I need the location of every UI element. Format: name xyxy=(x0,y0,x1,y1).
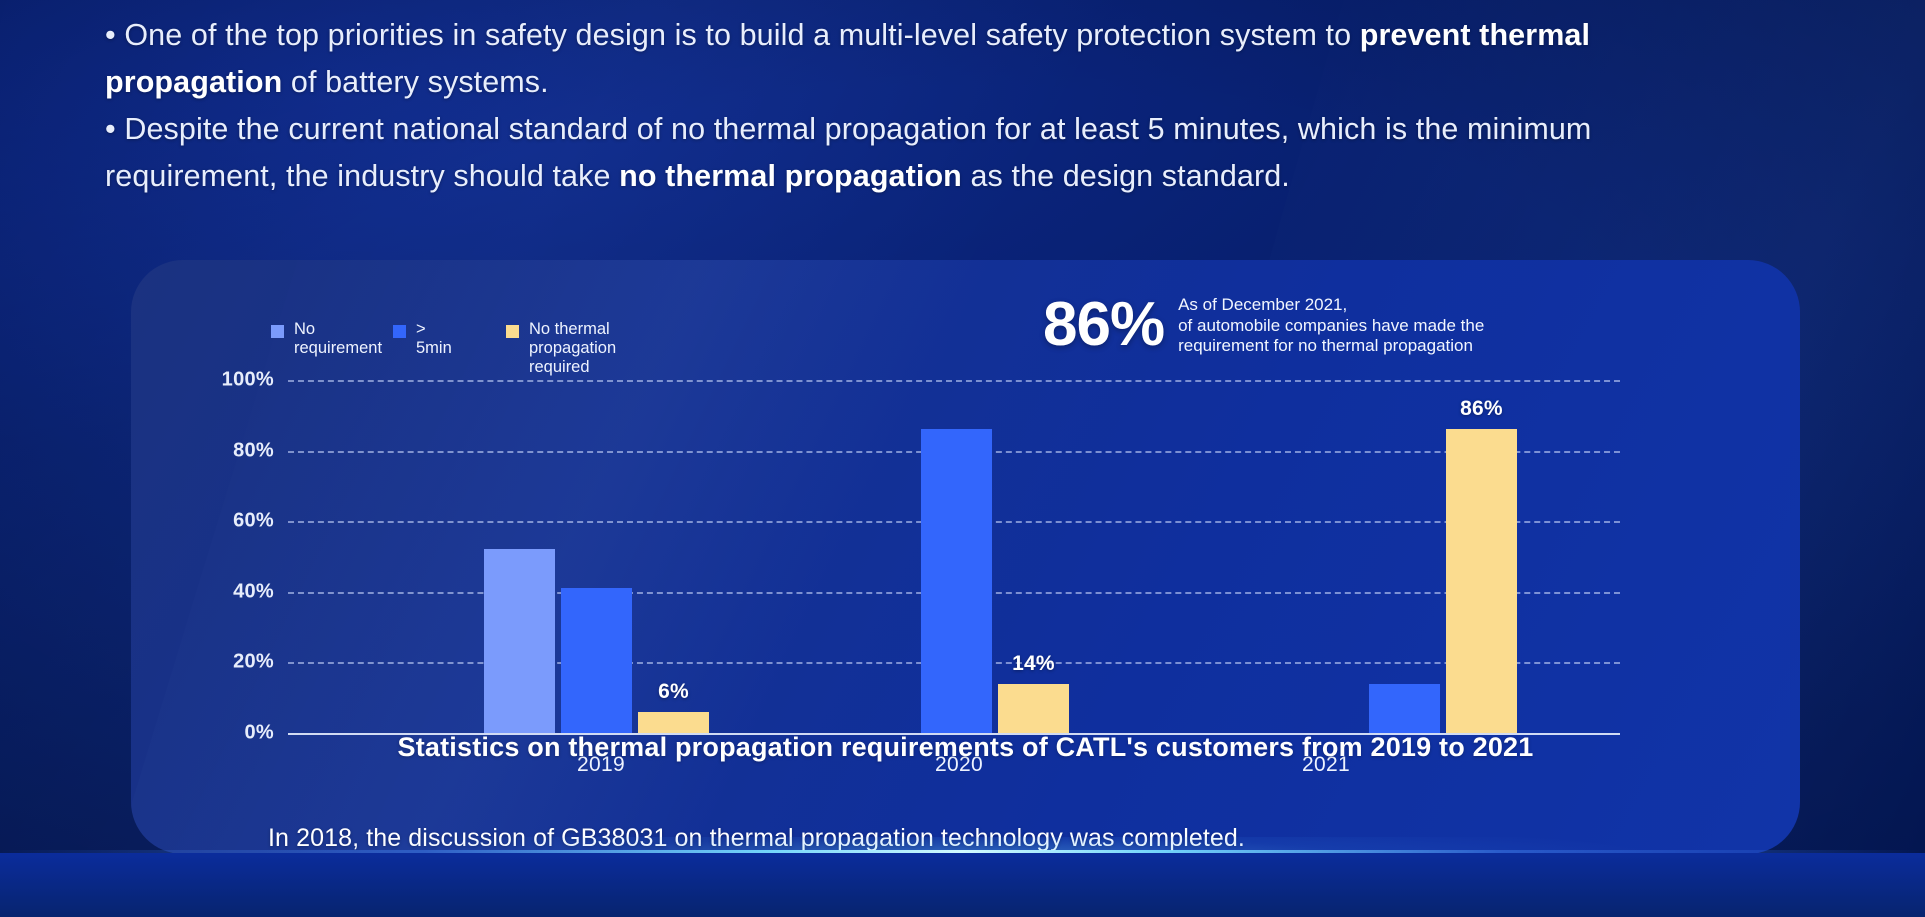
callout-86-percent: 86% As of December 2021, of automobile c… xyxy=(1043,293,1484,357)
chart-card: No requirement> 5minNo thermal propagati… xyxy=(131,260,1800,854)
bar-2020-series-1[interactable] xyxy=(921,429,992,733)
bullet-marker: • xyxy=(105,18,124,52)
bar-2021-series-2[interactable] xyxy=(1446,429,1517,733)
chart-caption: Statistics on thermal propagation requir… xyxy=(131,732,1800,763)
bar-2019-series-0[interactable] xyxy=(484,549,555,733)
callout-description: As of December 2021, of automobile compa… xyxy=(1178,295,1484,357)
bullet-marker: • xyxy=(105,112,124,146)
bottom-strip xyxy=(0,853,1925,917)
bullet-1-segment-2: as the design standard. xyxy=(962,159,1290,193)
y-axis-tick: 20% xyxy=(194,651,274,674)
gridline-100% xyxy=(288,380,1620,382)
y-axis-tick: 40% xyxy=(194,580,274,603)
bar-2020-series-2[interactable] xyxy=(998,684,1069,733)
bar-2019-series-2[interactable] xyxy=(638,712,709,733)
bullet-1: • Despite the current national standard … xyxy=(105,106,1705,200)
y-axis-tick: 60% xyxy=(194,510,274,533)
bar-chart-plot: 0%20%40%60%80%100%6%201914%202086%2021 xyxy=(131,260,1800,854)
callout-percent-value: 86% xyxy=(1043,294,1164,356)
y-axis-tick: 80% xyxy=(194,439,274,462)
y-axis-tick: 100% xyxy=(194,369,274,392)
bar-2019-series-1[interactable] xyxy=(561,588,632,733)
bullet-0-segment-2: of battery systems. xyxy=(282,65,548,99)
bar-2021-series-1[interactable] xyxy=(1369,684,1440,733)
bar-value-label: 6% xyxy=(613,680,734,704)
bar-value-label: 86% xyxy=(1421,397,1542,421)
bullet-list: • One of the top priorities in safety de… xyxy=(105,12,1705,200)
bar-value-label: 14% xyxy=(973,652,1094,676)
bullet-0-segment-0: One of the top priorities in safety desi… xyxy=(124,18,1359,52)
bullet-0: • One of the top priorities in safety de… xyxy=(105,12,1705,106)
bullet-1-segment-1: no thermal propagation xyxy=(619,159,962,193)
